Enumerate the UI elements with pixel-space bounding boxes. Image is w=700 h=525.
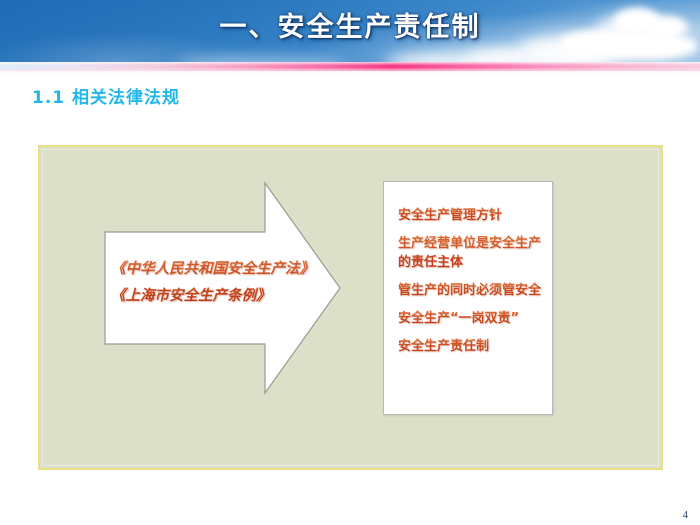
header-accent-strip-fade [0,69,700,74]
list-item: 安全生产责任制 [398,337,546,356]
header-banner: 一、安全生产责任制 [0,0,700,62]
page-number: 4 [683,509,689,521]
arrow-label-line-2: 《上海市安全生产条例》 [111,283,333,310]
arrow-diagram: 《中华人民共和国安全生产法》 《上海市安全生产条例》 [103,180,343,396]
list-item: 安全生产“一岗双责” [398,309,546,328]
callout-box: 安全生产管理方针 生产经营单位是安全生产的责任主体 管生产的同时必须管安全 安全… [383,181,553,415]
list-item: 生产经营单位是安全生产的责任主体 [398,234,546,272]
arrow-label: 《中华人民共和国安全生产法》 《上海市安全生产条例》 [111,256,333,310]
callout-list: 安全生产管理方针 生产经营单位是安全生产的责任主体 管生产的同时必须管安全 安全… [398,206,546,356]
section-heading: 1.1 相关法律法规 [32,83,180,108]
list-item: 安全生产管理方针 [398,206,546,225]
list-item: 管生产的同时必须管安全 [398,281,546,300]
arrow-label-line-1: 《中华人民共和国安全生产法》 [111,256,333,283]
slide-title: 一、安全生产责任制 [0,6,700,50]
